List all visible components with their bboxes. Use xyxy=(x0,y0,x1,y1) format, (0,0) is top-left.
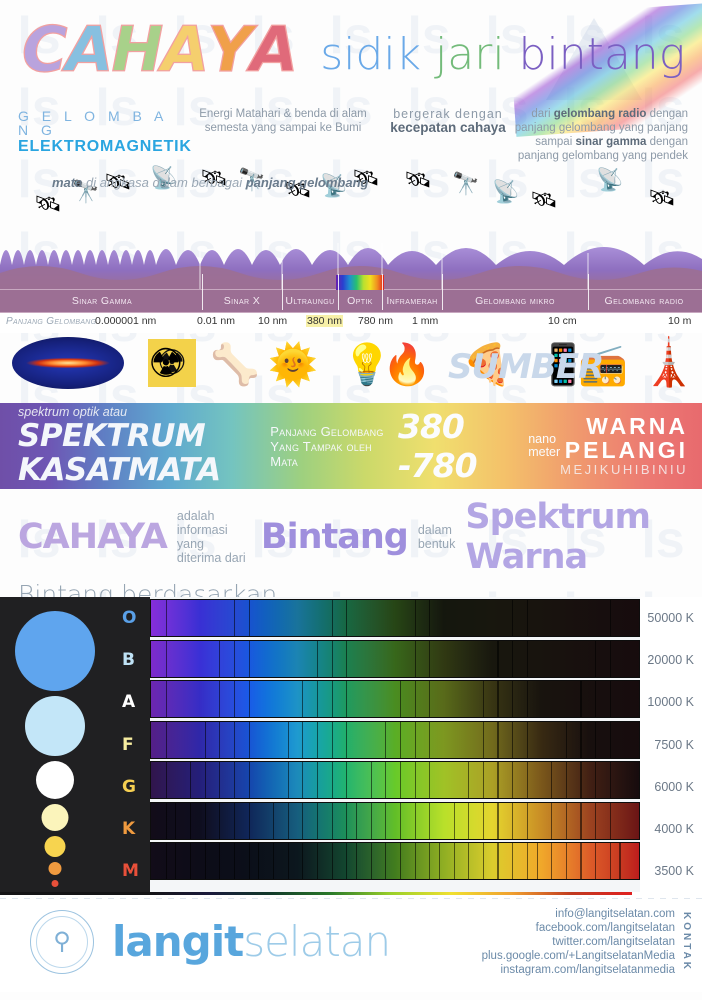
spectrum-strip-O xyxy=(150,599,640,637)
spectrum-strip-G xyxy=(150,761,640,799)
wavelength-value-6: 10 cm xyxy=(548,315,577,327)
em-band-inframerah: Inframerah xyxy=(382,290,442,312)
title-letter-1: A xyxy=(66,20,112,80)
intro-row: G E L O M B A N G ELEKTROMAGNETIK Energi… xyxy=(0,95,702,163)
visible-banner-right: WARNA PELANGI MEJIKUHIBINIU xyxy=(560,414,702,478)
note-line-2: yang diterima dari xyxy=(177,537,251,565)
note-line-4: bentuk xyxy=(418,537,456,551)
mata-word: mata xyxy=(52,175,82,190)
temperature-G: 6000 K xyxy=(654,780,694,794)
spektrum-kasatmata-title: SPEKTRUM KASATMATA xyxy=(18,419,270,487)
pelangi-label: PELANGI xyxy=(560,438,688,462)
temperature-A: 10000 K xyxy=(647,695,694,709)
radiation-hazard-icon: ☢ xyxy=(148,341,184,387)
radiator-heater-icon: 🔥 xyxy=(382,341,432,388)
spectrum-strip-B xyxy=(150,640,640,678)
contact-line-1[interactable]: facebook.com/langitselatan xyxy=(482,921,675,935)
wavelength-value-3: 380 nm xyxy=(306,315,343,327)
satellites-caption: mata di angkasa dalam berbagai panjang g… xyxy=(52,175,369,190)
mejikuhibiniu-label: MEJIKUHIBINIU xyxy=(560,462,688,478)
sinar-gamma-label: sinar gamma xyxy=(575,136,646,148)
wavelength-value-0: 0.000001 nm xyxy=(95,315,156,327)
caption-mid: di angkasa dalam berbagai xyxy=(82,175,245,190)
dalam-bentuk-note: dalam bentuk xyxy=(418,523,456,551)
satellite-icon-10: 🔭 xyxy=(452,171,479,197)
gelombang-label: G E L O M B A N G xyxy=(18,109,178,137)
wavelength-value-4: 780 nm xyxy=(358,315,393,327)
title-letter-5: A xyxy=(250,20,296,80)
star-disc-M xyxy=(52,880,59,887)
wavelength-value-1: 0.01 nm xyxy=(197,315,235,327)
footer-rule xyxy=(0,892,702,895)
sampai-label: sampai xyxy=(535,136,575,148)
brand-selatan: selatan xyxy=(243,917,390,966)
stellar-class-chart: OBAFGKM 50000 K20000 K10000 K7500 K6000 … xyxy=(0,597,702,892)
bintang-word: Bintang xyxy=(261,517,408,557)
chart-temperature-column: 50000 K20000 K10000 K7500 K6000 K4000 K3… xyxy=(640,597,702,892)
page-title: CAHAYA xyxy=(22,20,296,80)
tampak-mata-label: Yang Tampak oleh Mata xyxy=(270,439,398,469)
brand-logo: langitselatan xyxy=(112,920,390,964)
visible-spectrum-banner: spektrum optik atau SPEKTRUM KASATMATA P… xyxy=(0,403,702,489)
galaxy-gamma-map-icon xyxy=(12,337,124,389)
em-band-tick-4 xyxy=(382,274,383,310)
em-band-ultraungu: Ultraungu xyxy=(282,290,338,312)
contact-line-0[interactable]: info@langitselatan.com xyxy=(482,907,675,921)
temperature-O: 50000 K xyxy=(647,611,694,625)
chart-star-column: OBAFGKM xyxy=(0,597,150,892)
spectrum-strip-A xyxy=(150,680,640,718)
temperature-M: 3500 K xyxy=(654,864,694,878)
em-band-sinar-gamma: Sinar Gamma xyxy=(2,290,202,312)
subtitle-word-2: bintang xyxy=(519,29,686,80)
statement-row-1: CAHAYA adalah informasi yang diterima da… xyxy=(18,497,702,577)
chart-spectra-column xyxy=(150,597,640,892)
dengan-label-2: dengan xyxy=(646,136,688,148)
intro-col-energy: Energi Matahari & benda di alam semesta … xyxy=(178,103,388,163)
statements-block: CAHAYA adalah informasi yang diterima da… xyxy=(0,489,702,597)
spectral-class-G: G xyxy=(122,777,136,797)
footer: ⚲ langitselatan info@langitselatan.comfa… xyxy=(0,892,702,992)
temperature-K: 4000 K xyxy=(654,822,694,836)
spectral-class-O: O xyxy=(122,608,136,628)
em-spectrum-bar: Sinar GammaSinar XUltraunguOptikInframer… xyxy=(0,289,702,313)
em-band-optik: Optik xyxy=(338,290,382,312)
satellite-icon-13: 📡 xyxy=(596,167,623,193)
star-disc-K xyxy=(49,862,62,875)
infographic-page: lslslslslslslslslslslslslslslslslslslsls… xyxy=(0,0,702,1000)
star-disc-B xyxy=(25,696,85,756)
star-disc-F xyxy=(42,804,69,831)
dari-label: dari xyxy=(531,108,553,120)
kecepatan-cahaya-label: kecepatan cahaya xyxy=(388,121,508,135)
brand-langit: langit xyxy=(112,917,243,966)
em-band-tick-5 xyxy=(442,274,443,310)
panjang-gelombang-label: Panjang Gelombang xyxy=(270,424,398,439)
sunbathing-uv-icon: 🌞 xyxy=(268,341,318,388)
header: CAHAYA sidik jari bintang xyxy=(0,0,702,95)
satellite-icon-11: 📡 xyxy=(492,179,519,205)
page-subtitle: sidik jari bintang xyxy=(320,32,685,78)
sumber-watermark: SUMBER xyxy=(448,347,603,387)
bergerak-label: bergerak dengan xyxy=(388,107,508,121)
spectral-class-M: M xyxy=(122,861,139,881)
panjang-pendek-label: panjang gelombang yang pendek xyxy=(508,149,688,163)
visible-banner-left: spektrum optik atau SPEKTRUM KASATMATA xyxy=(0,405,270,487)
wavelength-value-7: 10 m xyxy=(668,315,691,327)
subtitle-word-1: jari xyxy=(435,29,519,80)
visible-banner-mid: Panjang Gelombang Yang Tampak oleh Mata xyxy=(270,424,398,469)
wavelength-caption: Panjang Gelombang xyxy=(6,316,96,327)
intro-col-em: G E L O M B A N G ELEKTROMAGNETIK xyxy=(18,103,178,163)
em-band-tick-1 xyxy=(202,274,203,310)
title-letter-4: Y xyxy=(207,20,250,80)
spectral-class-A: A xyxy=(122,692,135,712)
unit-meter: meter xyxy=(528,446,560,459)
optical-mini-spectrum-icon xyxy=(336,275,384,290)
title-letter-0: C xyxy=(22,20,66,80)
panjang-gelombang-word: panjang gelombang xyxy=(246,175,369,190)
gelombang-radio-label: gelombang radio xyxy=(554,108,647,120)
xray-child-icon: 🦴 xyxy=(210,341,260,388)
wavelength-value-2: 10 nm xyxy=(258,315,287,327)
spektrum-optik-label: spektrum optik atau xyxy=(18,405,270,419)
spectrum-strip-K xyxy=(150,802,640,840)
em-band-gelombang-radio: Gelombang radio xyxy=(588,290,700,312)
spectrum-strip-M xyxy=(150,842,640,880)
contact-line-4[interactable]: instagram.com/langitselatanmedia xyxy=(482,963,675,977)
temperature-F: 7500 K xyxy=(654,738,694,752)
satellite-icon-0: 🛰 xyxy=(34,191,62,217)
intro-col-range: dari gelombang radio dengan panjang gelo… xyxy=(508,103,688,163)
footer-dashline xyxy=(0,898,702,899)
em-band-gelombang-mikro: Gelombang mikro xyxy=(442,290,588,312)
kontak-label: KONTAK xyxy=(681,912,692,972)
temperature-B: 20000 K xyxy=(647,653,694,667)
radio-tower-icon: 🗼 xyxy=(640,335,697,390)
title-letter-2: H xyxy=(112,20,162,80)
satellite-icon-9: 🛰 xyxy=(404,167,432,193)
deer-emblem-icon: ⚲ xyxy=(53,930,71,954)
sources-icon-strip: SUMBER ☢ ☢🦴🌞💡🔥🍕📱📻🗼 xyxy=(0,333,702,403)
em-band-tick-2 xyxy=(282,274,283,310)
wavelength-row: Panjang Gelombang 0.000001 nm0.01 nm10 n… xyxy=(0,313,702,333)
subtitle-word-0: sidik xyxy=(320,29,435,80)
star-disc-G xyxy=(45,836,66,857)
spektrum-warna-word: Spektrum Warna xyxy=(465,497,702,577)
dengan-label-1: dengan xyxy=(646,108,688,120)
wavelength-range-value: 380 -780 xyxy=(398,407,522,485)
satellite-icon-14: 🛰 xyxy=(648,185,676,211)
intro-col-speed: bergerak dengan kecepatan cahaya xyxy=(388,103,508,163)
note-line-3: dalam xyxy=(418,523,456,537)
em-band-sinar-x: Sinar X xyxy=(202,290,282,312)
warna-label: WARNA xyxy=(560,414,688,438)
spectral-class-K: K xyxy=(122,819,135,839)
panjang-panjang-label: panjang gelombang yang panjang xyxy=(508,121,688,135)
spectral-class-F: F xyxy=(122,735,134,755)
satellite-icon-12: 🛰 xyxy=(530,187,558,213)
star-disc-A xyxy=(36,761,74,799)
contact-list: info@langitselatan.comfacebook.com/langi… xyxy=(482,907,675,977)
adalah-informasi-note: adalah informasi yang diterima dari xyxy=(177,509,251,565)
spectral-class-B: B xyxy=(122,650,135,670)
contact-line-3[interactable]: plus.google.com/+LangitselatanMedia xyxy=(482,949,675,963)
spectrum-strip-F xyxy=(150,721,640,759)
wavelength-value-5: 1 mm xyxy=(412,315,438,327)
note-line-1: adalah informasi xyxy=(177,509,251,537)
contact-line-2[interactable]: twitter.com/langitselatan xyxy=(482,935,675,949)
title-letter-3: A xyxy=(161,20,207,80)
langitselatan-seal-icon: ⚲ xyxy=(30,910,94,974)
wavelength-unit: nano meter xyxy=(528,433,560,459)
cahaya-word: CAHAYA xyxy=(18,517,167,557)
star-disc-O xyxy=(15,611,95,691)
satellites-band: mata di angkasa dalam berbagai panjang g… xyxy=(0,163,702,235)
em-band-tick-3 xyxy=(338,274,339,310)
em-band-tick-6 xyxy=(588,274,589,310)
elektromagnetik-label: ELEKTROMAGNETIK xyxy=(18,140,178,154)
